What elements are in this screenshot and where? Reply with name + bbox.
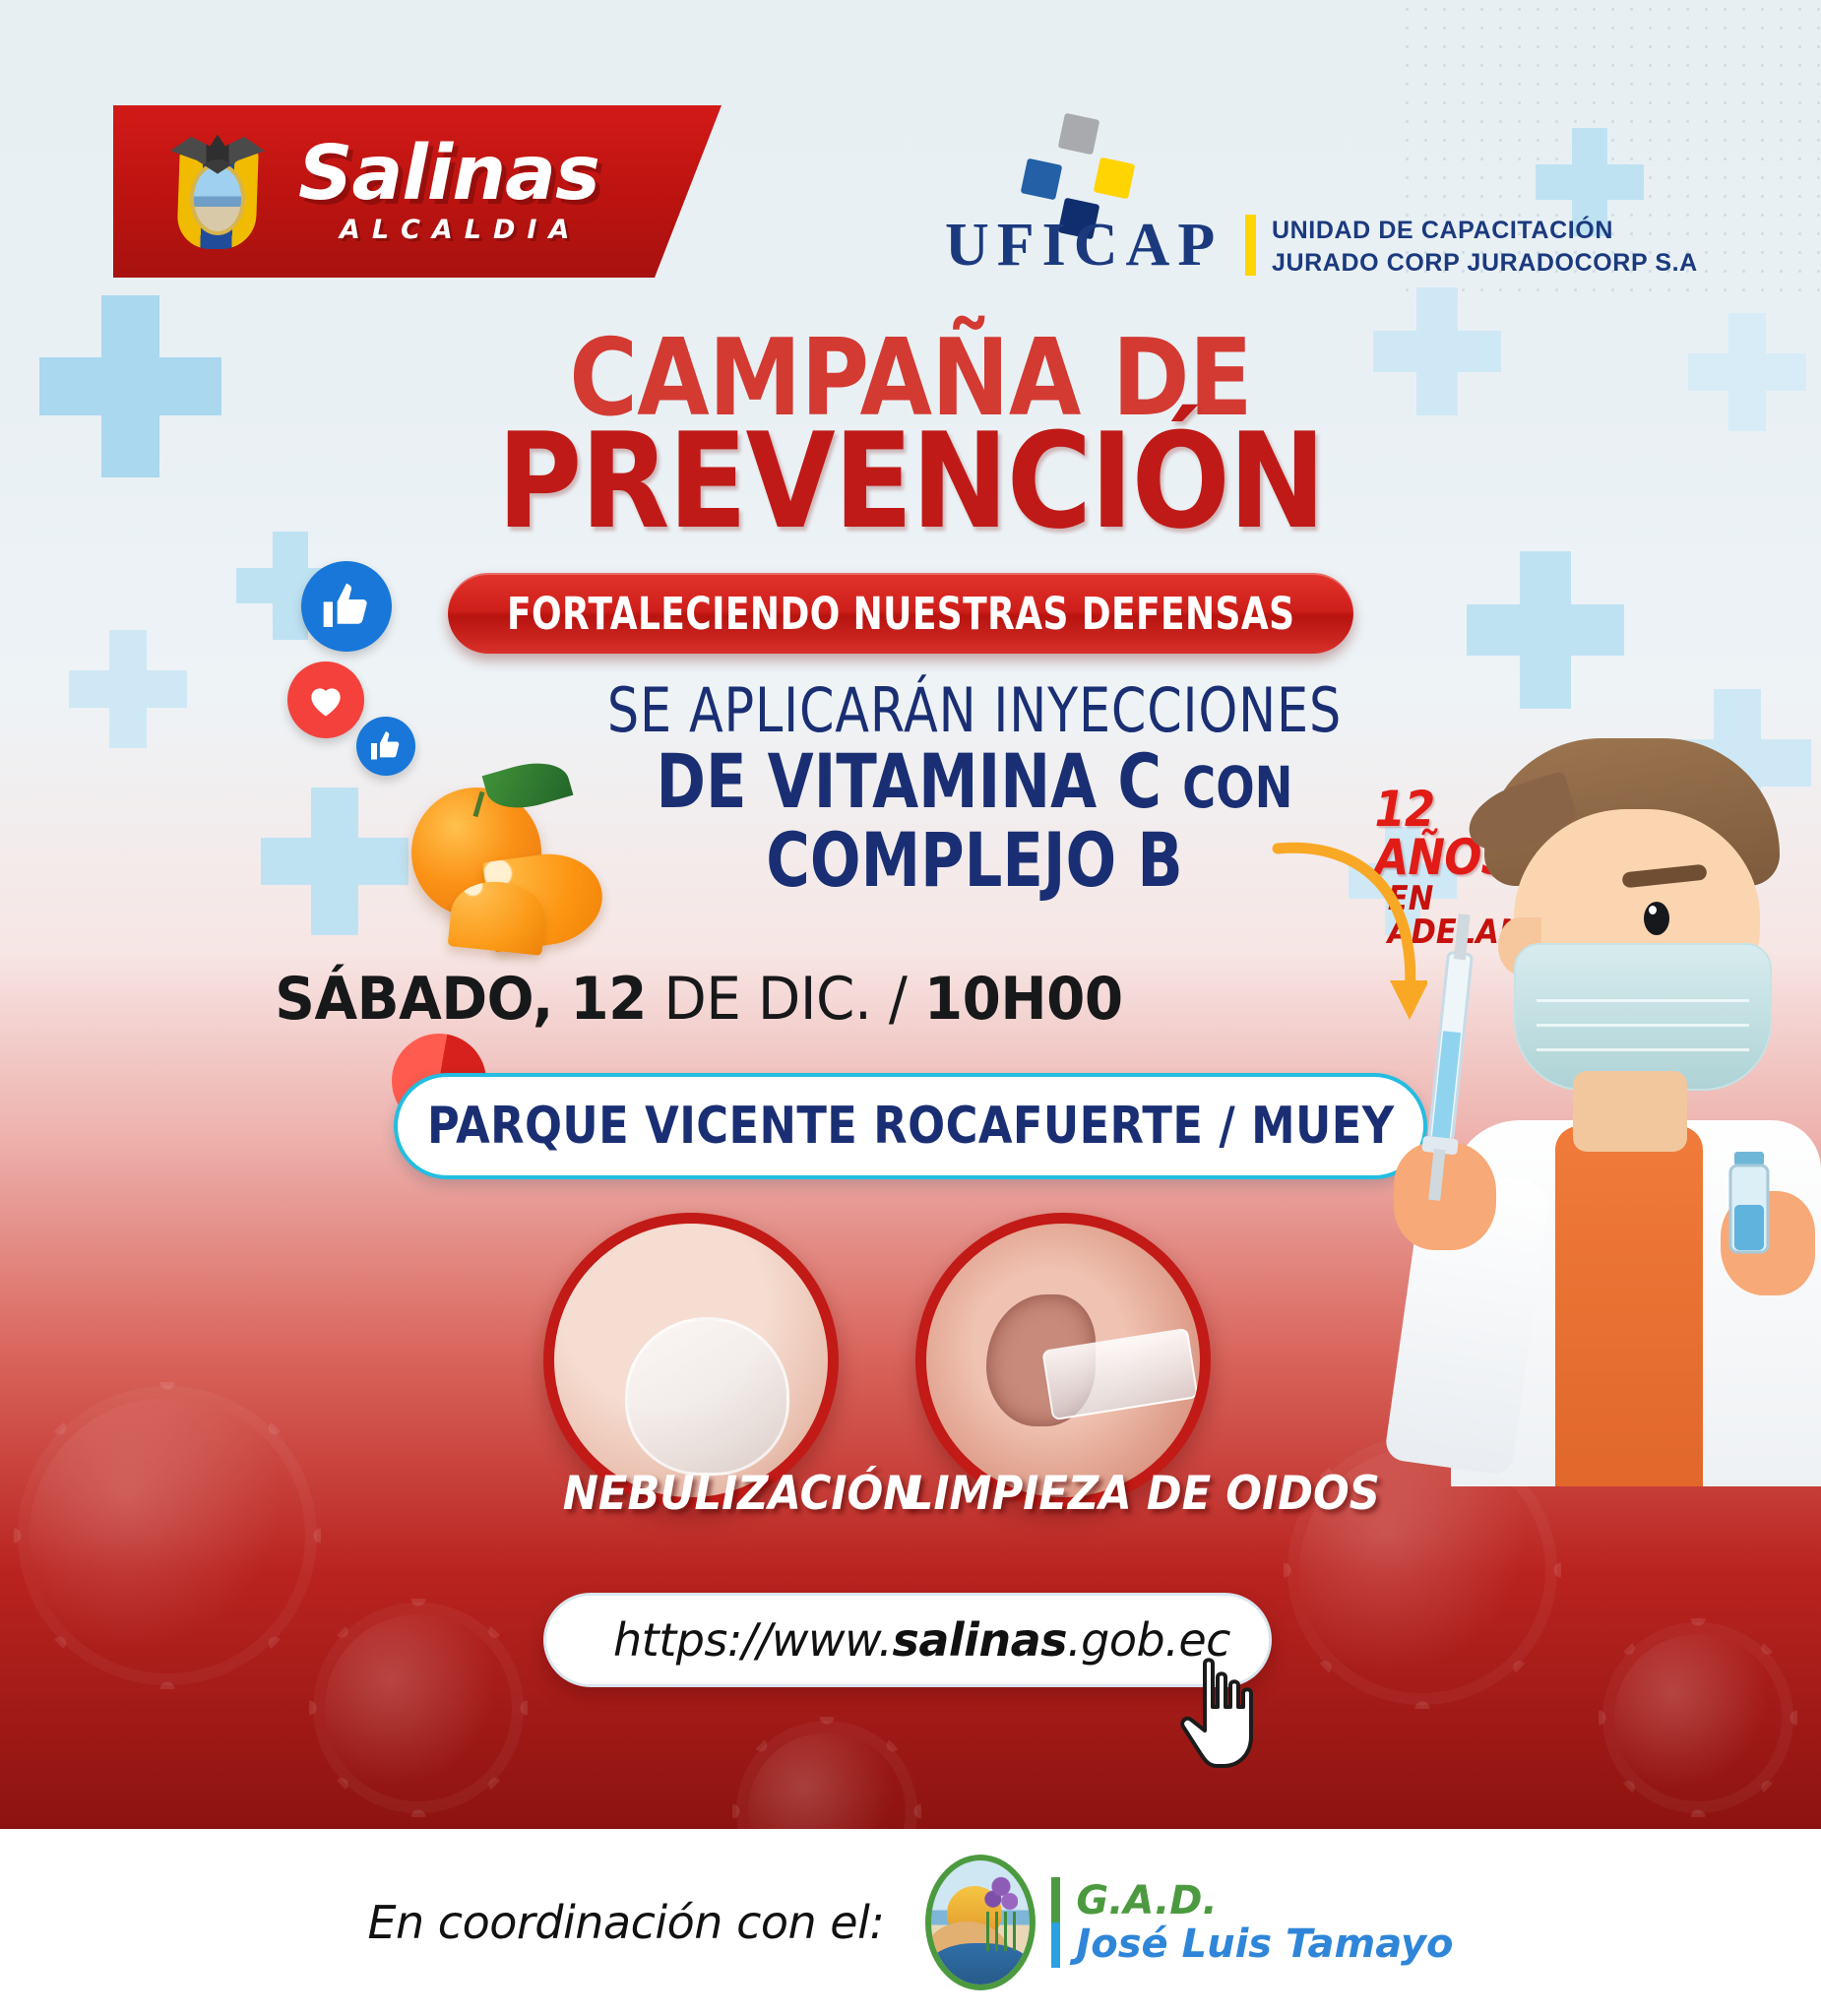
doctor-neck xyxy=(1573,1071,1687,1152)
surgical-mask-icon xyxy=(1514,943,1772,1091)
virus-decoration xyxy=(325,1614,512,1801)
gad-emblem-icon xyxy=(925,1855,1036,1990)
doctor-illustration xyxy=(1408,728,1821,1486)
service-photo-limpieza-oidos xyxy=(915,1213,1211,1508)
thumbs-up-icon xyxy=(301,561,392,652)
uficap-logo: UFICAP UNIDAD DE CAPACITACIÓN JURADO COR… xyxy=(945,116,1693,279)
gad-line1: G.A.D. xyxy=(1076,1879,1453,1922)
website-search-bar[interactable]: https://www.salinas.gob.ec xyxy=(543,1593,1272,1687)
offer-line2-small: CON xyxy=(1182,754,1292,821)
event-date-number: 12 xyxy=(570,965,647,1034)
location-banner: PARQUE VICENTE ROCAFUERTE / MUEY xyxy=(394,1073,1427,1179)
virus-decoration xyxy=(30,1398,305,1673)
doctor-eye xyxy=(1644,902,1669,935)
poster-canvas: Salinas ALCALDIA UFICAP UNIDAD DE CAPACI… xyxy=(0,0,1821,1829)
ecuador-coat-of-arms-icon xyxy=(164,127,271,257)
offer-line2-main: DE VITAMINA C xyxy=(656,737,1162,825)
footer: En coordinación con el: G.A.D. José Luis… xyxy=(0,1829,1821,2016)
cross-decoration xyxy=(261,787,408,935)
gad-line2: José Luis Tamayo xyxy=(1076,1922,1453,1966)
uficap-tagline-line1: UNIDAD DE CAPACITACIÓN xyxy=(1272,215,1698,247)
heart-icon xyxy=(287,661,364,738)
event-day: SÁBADO, xyxy=(275,965,553,1034)
offer-line3: COMPLEJO B xyxy=(604,822,1345,899)
event-date: SÁBADO, 12 DE DIC. / 10H00 xyxy=(42,965,1356,1034)
gad-wordmark: G.A.D. José Luis Tamayo xyxy=(1076,1879,1453,1966)
url-bold: salinas xyxy=(892,1613,1067,1667)
offer-line1: SE APLICARÁN INYECCIONES xyxy=(596,679,1354,741)
service-photo-nebulizacion xyxy=(543,1213,839,1508)
gad-logo: G.A.D. José Luis Tamayo xyxy=(925,1855,1453,1990)
website-url: https://www.salinas.gob.ec xyxy=(613,1613,1230,1667)
virus-decoration xyxy=(748,1732,906,1829)
salinas-logo: Salinas ALCALDIA xyxy=(113,105,722,278)
pointer-hand-cursor-icon xyxy=(1171,1654,1280,1772)
virus-decoration xyxy=(1614,1634,1782,1801)
salinas-subtitle: ALCALDIA xyxy=(340,215,599,245)
service-label-nebulizacion: NEBULIZACIÓN xyxy=(563,1467,919,1521)
coordination-text: En coordinación con el: xyxy=(367,1896,884,1949)
headline-banner-text: FORTALECIENDO NUESTRAS DEFENSAS xyxy=(507,588,1294,640)
location-text: PARQUE VICENTE ROCAFUERTE / MUEY xyxy=(427,1097,1395,1156)
doctor-shirt xyxy=(1555,1126,1703,1486)
cross-decoration xyxy=(1467,551,1624,709)
uficap-wordmark: UFICAP xyxy=(945,211,1223,281)
page-title: CAMPAÑA DE PREVENCIÓN xyxy=(0,330,1821,543)
uficap-tagline: UNIDAD DE CAPACITACIÓN JURADO CORP JURAD… xyxy=(1272,215,1698,280)
headline-banner: FORTALECIENDO NUESTRAS DEFENSAS xyxy=(448,573,1353,654)
event-month: DE DIC. xyxy=(663,965,871,1034)
service-label-limpieza-oidos: LIMPIEZA DE OIDOS xyxy=(907,1467,1380,1521)
uficap-divider xyxy=(1245,215,1256,276)
salinas-wordmark: Salinas ALCALDIA xyxy=(298,138,599,244)
headline-line2: PREVENCIÓN xyxy=(109,421,1712,542)
event-time: 10H00 xyxy=(924,965,1123,1034)
vaccine-vial-icon xyxy=(1721,1152,1778,1260)
salinas-name: Salinas xyxy=(298,138,599,210)
event-separator: / xyxy=(889,965,908,1034)
gad-divider xyxy=(1051,1877,1060,1968)
uficap-tagline-line2: JURADO CORP JURADOCORP S.A xyxy=(1272,247,1698,280)
offer-line2: DE VITAMINA C CON xyxy=(604,743,1345,820)
cross-decoration xyxy=(69,630,187,748)
uficap-diamonds-icon xyxy=(1024,116,1132,220)
url-prefix: https://www. xyxy=(613,1613,892,1667)
